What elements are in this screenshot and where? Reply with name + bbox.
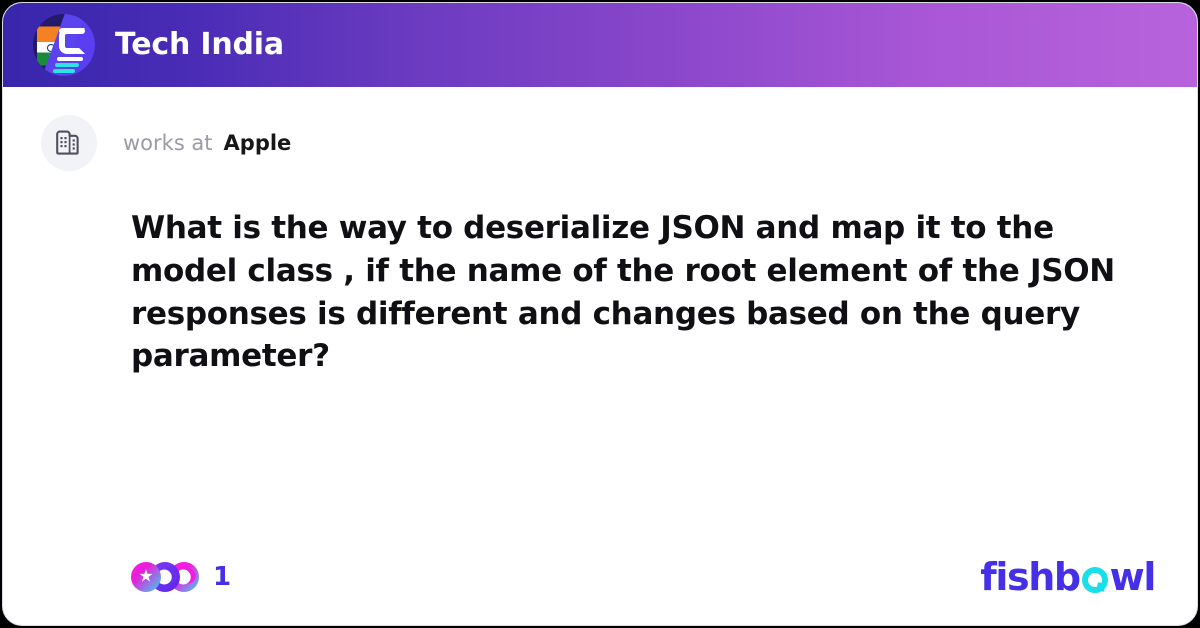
post-footer: ★ 1 fishb wl [3,529,1197,625]
reaction-count: 1 [213,564,231,590]
bowl-title: Tech India [115,30,284,60]
author-meta: works at Apple [123,131,291,155]
reaction-badge-stack[interactable]: ★ [131,562,199,592]
post-body: works at Apple What is the way to deseri… [3,87,1197,625]
question-text: What is the way to deserialize JSON and … [131,207,1153,378]
author-row: works at Apple [3,87,1197,171]
avatar [41,115,97,171]
fishbowl-wordmark-start: fishb [980,558,1079,596]
fishbowl-logo[interactable]: fishb wl [980,558,1155,596]
works-at-label: works at [123,131,213,155]
reactions-group[interactable]: ★ 1 [131,562,231,592]
logo-c-top [59,28,85,34]
logo-stripe-1 [57,57,83,61]
tech-india-bowl-logo [33,14,95,76]
star-reaction-icon[interactable]: ★ [131,562,161,592]
post-card: Tech India [2,2,1198,626]
star-glyph: ★ [138,569,153,586]
office-building-icon [54,128,84,158]
fishbowl-speech-bubble-o-icon [1082,567,1108,593]
fishbowl-wordmark-end: wl [1110,558,1155,596]
logo-stripe-2 [55,63,79,67]
bowl-header[interactable]: Tech India [3,3,1197,87]
company-name[interactable]: Apple [224,131,292,155]
logo-stripe-3 [53,69,75,73]
